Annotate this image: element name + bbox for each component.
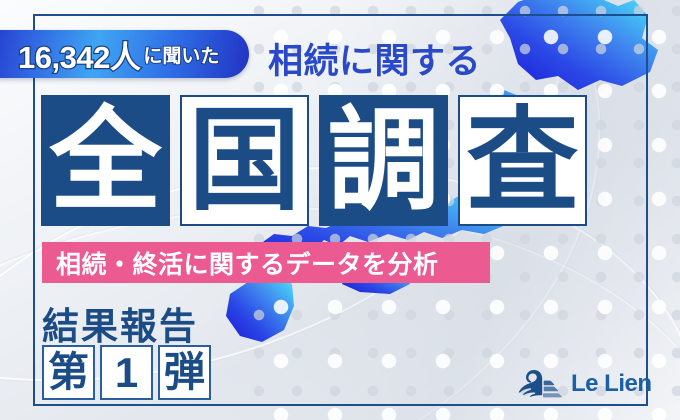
title-char-box: 査 [458,95,587,226]
lede-text: 相続に関する [268,33,481,84]
report-edition: 第 1 弾 [42,345,211,400]
brand-logo: Le Lien [518,368,652,400]
edition-char-box: 弾 [158,345,211,400]
title-char-box: 国 [180,95,309,226]
subtitle-text: 相続・終活に関するデータを分析 [56,245,439,281]
wave-leaf-mark-icon [518,368,564,400]
subtitle-band: 相続・終活に関するデータを分析 [42,242,490,283]
poster-canvas: 16,342人 に聞いた 相続に関する 全 国 調 査 相続・終活に関するデータ… [0,0,680,420]
title-char-box: 全 [41,95,170,226]
brand-name: Le Lien [571,370,652,398]
edition-number-box: 1 [100,345,153,400]
respondent-count-badge: 16,342人 に聞いた [0,30,249,78]
report-heading: 結果報告 [42,296,198,350]
title-char-box: 調 [319,95,448,226]
main-title: 全 国 調 査 [41,95,587,226]
edition-char-box: 第 [42,345,95,400]
respondent-count: 16,342人 [18,32,140,77]
respondent-count-suffix: に聞いた [143,41,219,68]
